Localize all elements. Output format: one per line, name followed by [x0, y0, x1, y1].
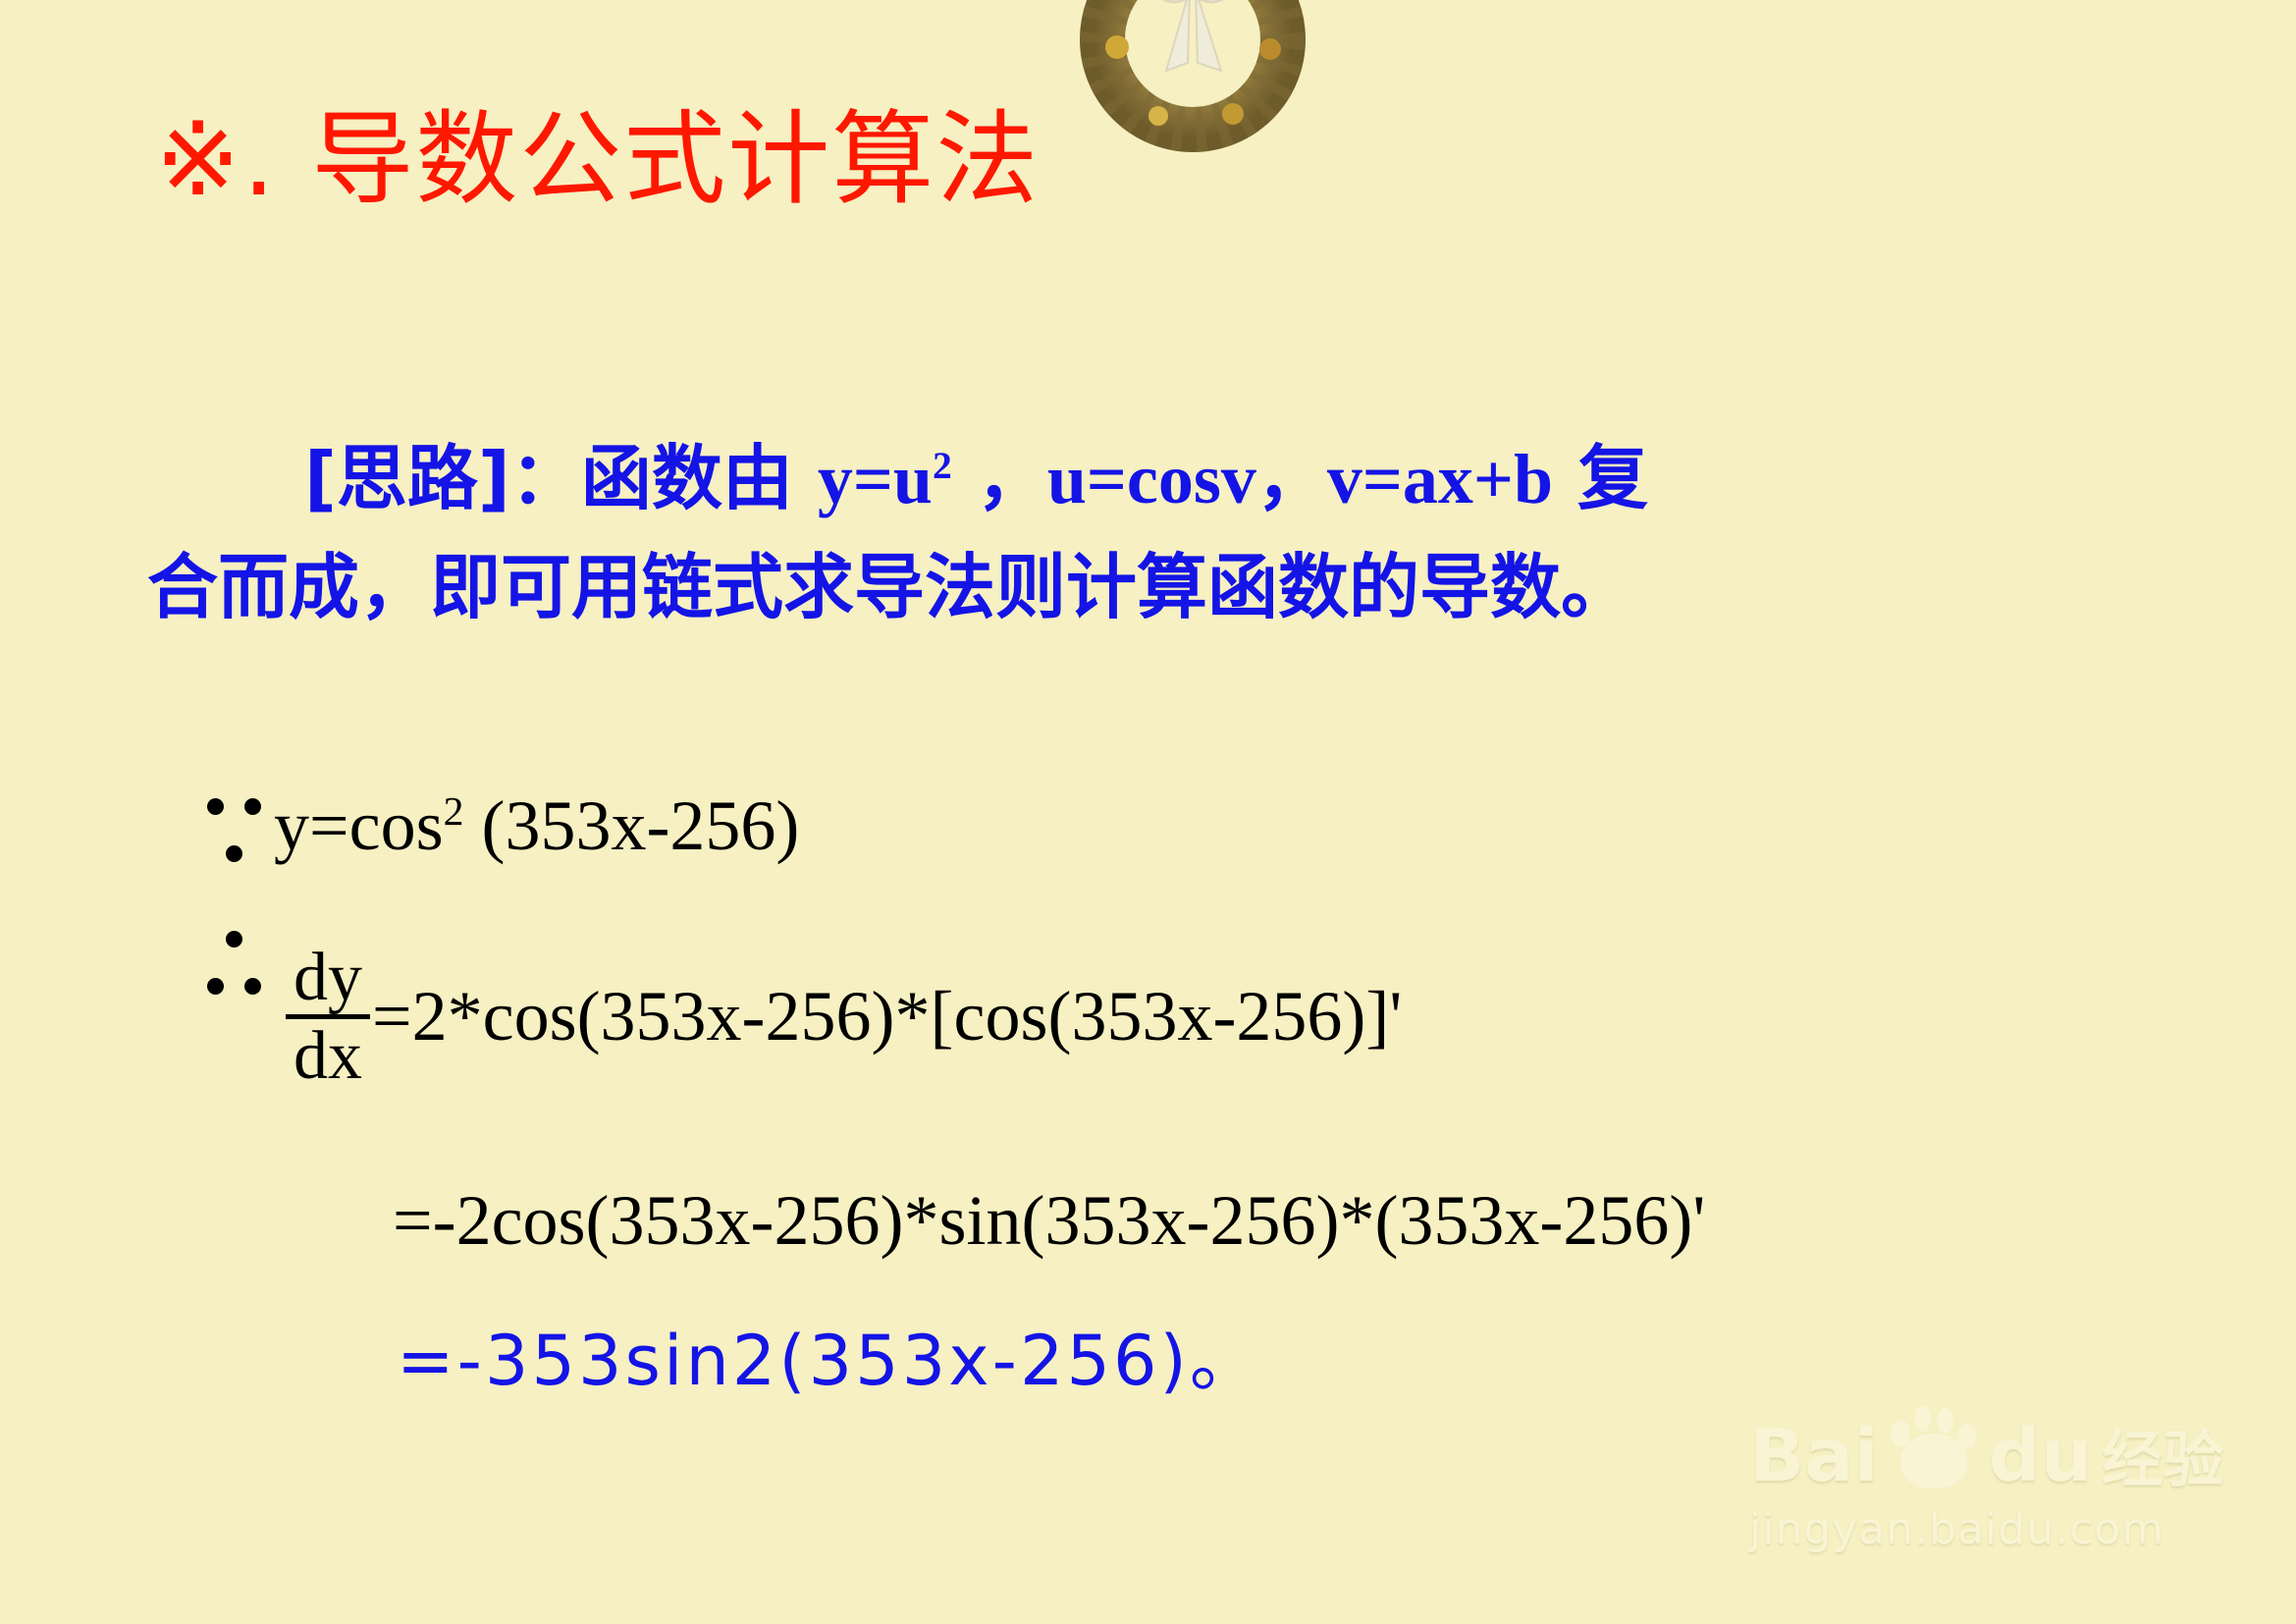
step1-expression: y=cos2 (353x-256) [274, 786, 799, 865]
fraction-numerator: dy [286, 943, 370, 1012]
derivation-step-2: dy dx =2*cos(353x-256)*[cos(353x-256)]' [201, 943, 1402, 1092]
exponent-two: 2 [444, 789, 464, 835]
therefore-symbol-icon [201, 982, 280, 1053]
approach-line-2: 合而成，即可用链式求导法则计算函数的导数。 [147, 533, 2179, 641]
watermark-brand-bai: Bai [1749, 1422, 1879, 1490]
function-y-equals-u-squared: y=u2 [818, 440, 952, 518]
approach-line-1: [思路]：函数由 y=u2 ，u=cosv，v=ax+b 复 [147, 424, 2179, 533]
baidu-paw-icon [1889, 1406, 1979, 1490]
fraction-denominator: dx [286, 1021, 370, 1091]
watermark-brand-cn: 经验 [2102, 1430, 2223, 1490]
separator-1: ， [952, 437, 1047, 519]
derivation-step-3: =-2cos(353x-256)*sin(353x-256)*(353x-256… [393, 1180, 1705, 1262]
function-u-equals-cosv: u=cosv [1047, 440, 1256, 518]
watermark-brand-du: du [1989, 1422, 2093, 1490]
slide-title: ※. 导数公式计算法 [155, 106, 1040, 213]
approach-paragraph: [思路]：函数由 y=u2 ，u=cosv，v=ax+b 复 合而成，即可用链式… [147, 424, 2179, 641]
derivation-step-1: y=cos2 (353x-256) [201, 785, 799, 867]
watermark-url: jingyan.baidu.com [1749, 1504, 2240, 1554]
baidu-jingyan-watermark: Bai du 经验 jingyan.baidu.com [1749, 1406, 2240, 1554]
slide-canvas: ※. 导数公式计算法 [思路]：函数由 y=u2 ，u=cosv，v=ax+b … [0, 0, 2296, 1624]
approach-suffix: 复 [1553, 437, 1648, 519]
approach-prefix: [思路]：函数由 [304, 437, 818, 519]
function-v-equals-ax-plus-b: v=ax+b [1327, 440, 1553, 518]
step2-expression: =2*cos(353x-256)*[cos(353x-256)]' [372, 976, 1402, 1057]
separator-2: ， [1256, 437, 1327, 519]
exponent-two: 2 [933, 444, 952, 487]
derivation-step-4-result: =-353sin2(353x-256)。 [397, 1306, 1261, 1405]
christmas-wreath-image [1041, 0, 1345, 159]
derivative-fraction: dy dx [286, 943, 370, 1092]
